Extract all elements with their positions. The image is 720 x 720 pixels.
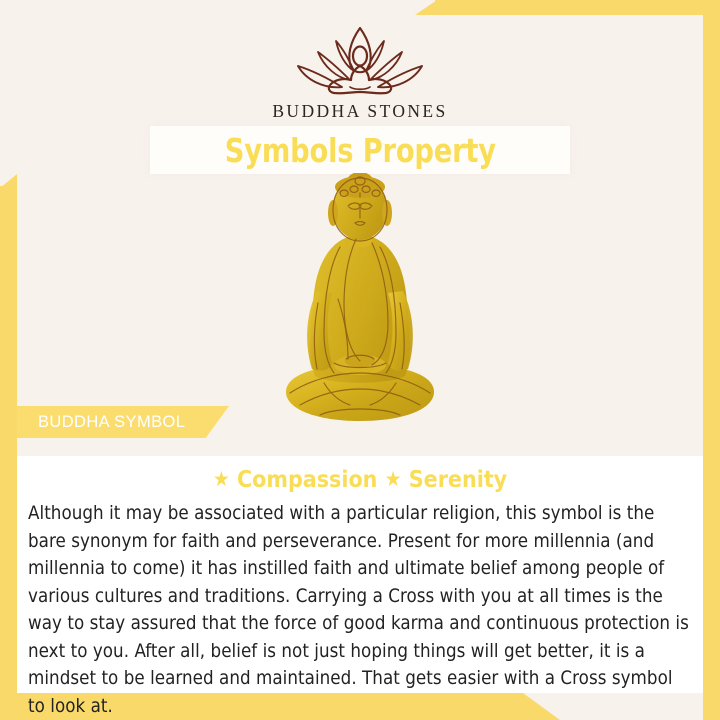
brand-block: BUDDHA STONES <box>0 22 720 122</box>
star-icon-one: ★ <box>213 467 230 491</box>
star-icon-two: ★ <box>385 467 402 491</box>
buddha-symbol-banner: BUDDHA SYMBOL <box>17 406 229 438</box>
seated-golden-buddha-statue-icon <box>260 173 460 428</box>
page-title: Symbols Property <box>224 131 495 170</box>
virtue-compassion: Compassion <box>237 467 377 493</box>
lotus-meditation-figure-icon <box>0 22 720 100</box>
description-paragraph: Although it may be associated with a par… <box>28 500 694 720</box>
buddha-symbol-banner-label: BUDDHA SYMBOL <box>17 413 185 432</box>
decoration-top-bar-notch <box>415 0 437 15</box>
decoration-top-bar <box>435 0 720 15</box>
brand-name: BUDDHA STONES <box>0 101 720 122</box>
infographic-page: BUDDHA STONES Symbols Property <box>0 0 720 720</box>
content-card: ★ Compassion ★ Serenity Although it may … <box>17 456 703 693</box>
virtue-serenity: Serenity <box>409 467 507 493</box>
virtues-heading: ★ Compassion ★ Serenity <box>17 467 703 493</box>
page-title-bar: Symbols Property <box>150 126 570 174</box>
buddha-artwork <box>0 178 720 428</box>
